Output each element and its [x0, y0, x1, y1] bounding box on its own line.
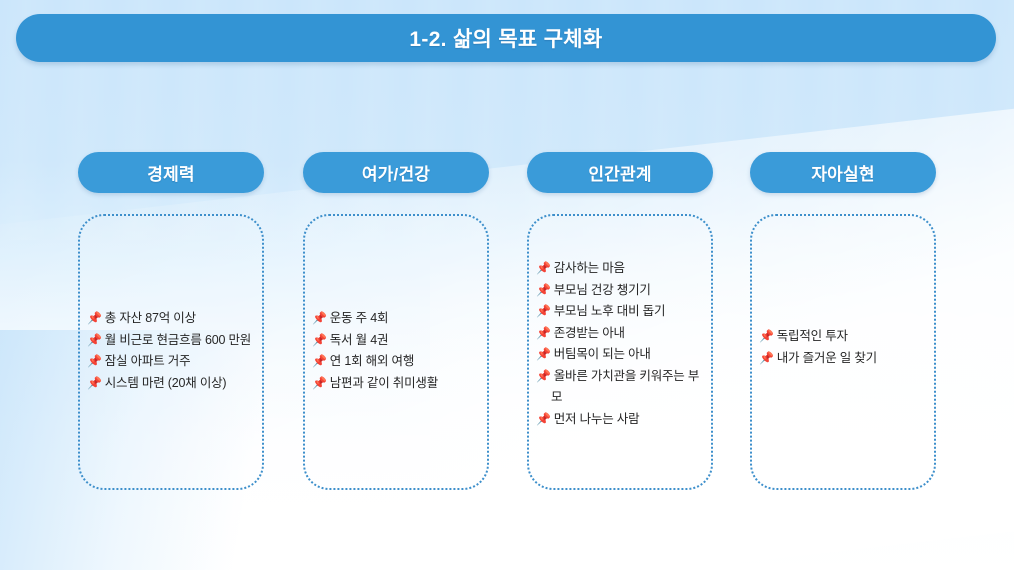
column-header-2[interactable]: 인간관계: [527, 152, 713, 193]
pushpin-icon: 📌: [536, 347, 551, 361]
pushpin-icon: 📌: [312, 376, 327, 390]
list-item-label: 시스템 마련 (20채 이상): [105, 376, 227, 390]
pushpin-icon: 📌: [312, 354, 327, 368]
pushpin-icon: 📌: [536, 326, 551, 340]
column-card-3: 📌독립적인 투자📌내가 즐거운 일 찾기: [750, 214, 936, 490]
list-item: 📌올바른 가치관을 키워주는 부모: [536, 366, 705, 409]
pushpin-icon: 📌: [536, 304, 551, 318]
column-item-list: 📌운동 주 4회📌독서 월 4권📌연 1회 해외 여행📌남편과 같이 취미생활: [312, 308, 481, 394]
slide-canvas: 1-2. 삶의 목표 구체화 경제력📌총 자산 87억 이상📌월 비근로 현금흐…: [0, 0, 1014, 570]
list-item: 📌부모님 건강 챙기기: [536, 280, 705, 302]
list-item: 📌연 1회 해외 여행: [312, 351, 481, 373]
pushpin-icon: 📌: [87, 311, 102, 325]
column-header-0[interactable]: 경제력: [78, 152, 264, 193]
column-header-label: 여가/건강: [362, 160, 430, 185]
pushpin-icon: 📌: [312, 333, 327, 347]
list-item: 📌부모님 노후 대비 돕기: [536, 301, 705, 323]
pushpin-icon: 📌: [759, 329, 774, 343]
column-header-label: 자아실현: [811, 160, 874, 185]
list-item: 📌독립적인 투자: [759, 326, 928, 348]
pushpin-icon: 📌: [536, 261, 551, 275]
goal-column-0: 경제력📌총 자산 87억 이상📌월 비근로 현금흐름 600 만원📌잠실 아파트…: [78, 152, 264, 193]
pushpin-icon: 📌: [536, 369, 551, 383]
list-item-label: 감사하는 마음: [554, 261, 625, 275]
column-header-3[interactable]: 자아실현: [750, 152, 936, 193]
list-item: 📌독서 월 4권: [312, 330, 481, 352]
pushpin-icon: 📌: [312, 311, 327, 325]
pushpin-icon: 📌: [87, 354, 102, 368]
column-item-list: 📌독립적인 투자📌내가 즐거운 일 찾기: [759, 326, 928, 369]
list-item: 📌내가 즐거운 일 찾기: [759, 348, 928, 370]
list-item-label: 운동 주 4회: [330, 311, 389, 325]
pushpin-icon: 📌: [87, 376, 102, 390]
list-item-label: 독립적인 투자: [777, 329, 848, 343]
column-card-1: 📌운동 주 4회📌독서 월 4권📌연 1회 해외 여행📌남편과 같이 취미생활: [303, 214, 489, 490]
list-item-label: 먼저 나누는 사람: [554, 412, 640, 426]
column-header-1[interactable]: 여가/건강: [303, 152, 489, 193]
list-item: 📌감사하는 마음: [536, 258, 705, 280]
goal-columns: 경제력📌총 자산 87억 이상📌월 비근로 현금흐름 600 만원📌잠실 아파트…: [0, 0, 1014, 570]
list-item-label: 존경받는 아내: [554, 326, 625, 340]
list-item: 📌월 비근로 현금흐름 600 만원: [87, 330, 256, 352]
column-header-label: 인간관계: [588, 160, 651, 185]
column-item-list: 📌감사하는 마음📌부모님 건강 챙기기📌부모님 노후 대비 돕기📌존경받는 아내…: [536, 258, 705, 430]
list-item-label: 부모님 건강 챙기기: [554, 283, 651, 297]
list-item-label: 부모님 노후 대비 돕기: [554, 304, 666, 318]
list-item-label: 버팀목이 되는 아내: [554, 347, 651, 361]
list-item-label: 남편과 같이 취미생활: [330, 376, 438, 390]
list-item-label: 월 비근로 현금흐름 600 만원: [105, 333, 251, 347]
list-item-label: 올바른 가치관을 키워주는 부모: [551, 369, 699, 405]
goal-column-1: 여가/건강📌운동 주 4회📌독서 월 4권📌연 1회 해외 여행📌남편과 같이 …: [303, 152, 489, 193]
list-item: 📌남편과 같이 취미생활: [312, 373, 481, 395]
list-item-label: 연 1회 해외 여행: [330, 354, 414, 368]
list-item: 📌존경받는 아내: [536, 323, 705, 345]
column-card-2: 📌감사하는 마음📌부모님 건강 챙기기📌부모님 노후 대비 돕기📌존경받는 아내…: [527, 214, 713, 490]
goal-column-3: 자아실현📌독립적인 투자📌내가 즐거운 일 찾기: [750, 152, 936, 193]
list-item: 📌총 자산 87억 이상: [87, 308, 256, 330]
list-item-label: 내가 즐거운 일 찾기: [777, 351, 877, 365]
list-item: 📌운동 주 4회: [312, 308, 481, 330]
list-item: 📌잠실 아파트 거주: [87, 351, 256, 373]
pushpin-icon: 📌: [536, 283, 551, 297]
list-item-label: 총 자산 87억 이상: [105, 311, 196, 325]
pushpin-icon: 📌: [87, 333, 102, 347]
pushpin-icon: 📌: [759, 351, 774, 365]
list-item: 📌먼저 나누는 사람: [536, 409, 705, 431]
goal-column-2: 인간관계📌감사하는 마음📌부모님 건강 챙기기📌부모님 노후 대비 돕기📌존경받…: [527, 152, 713, 193]
list-item: 📌버팀목이 되는 아내: [536, 344, 705, 366]
list-item-label: 독서 월 4권: [330, 333, 389, 347]
column-item-list: 📌총 자산 87억 이상📌월 비근로 현금흐름 600 만원📌잠실 아파트 거주…: [87, 308, 256, 394]
column-header-label: 경제력: [147, 160, 195, 185]
list-item-label: 잠실 아파트 거주: [105, 354, 191, 368]
pushpin-icon: 📌: [536, 412, 551, 426]
column-card-0: 📌총 자산 87억 이상📌월 비근로 현금흐름 600 만원📌잠실 아파트 거주…: [78, 214, 264, 490]
list-item: 📌시스템 마련 (20채 이상): [87, 373, 256, 395]
